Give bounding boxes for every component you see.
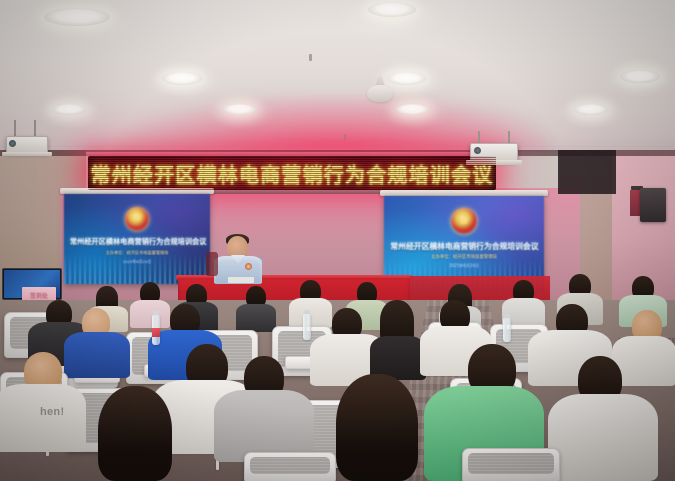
attendee-body — [0, 384, 86, 452]
attendee-body — [548, 394, 658, 481]
right-slide-subtitle: 主办单位：经开区市场监督管理局 — [390, 254, 537, 260]
police-emblem-icon: ★ — [125, 207, 149, 231]
ceiling-seam — [0, 146, 675, 147]
ceiling-sensor — [309, 54, 312, 61]
left-slide-title: 常州经开区横林电商营销行为合规培训会议 — [70, 237, 204, 247]
ceiling-downlight-5 — [620, 70, 660, 83]
ceiling-downlight-3 — [162, 72, 202, 85]
emblem-star-icon: ★ — [132, 212, 142, 223]
left-slide-date: 2025年6月24日 — [70, 259, 204, 265]
ceiling-downlight-7 — [223, 104, 256, 115]
presenter-chair — [206, 252, 218, 276]
chair — [462, 448, 560, 481]
attendee-head — [98, 386, 172, 481]
right-slide-title: 常州经开区横林电商营销行为合规培训会议 — [390, 241, 537, 252]
emblem-star-icon: ★ — [459, 214, 470, 226]
ceiling-downlight-8 — [396, 104, 429, 115]
ac-diffuser — [367, 85, 393, 102]
attendee-body — [130, 300, 170, 328]
attendee-shirt-text-left: hen! — [40, 406, 64, 418]
ceiling-downlight-9 — [574, 104, 608, 115]
projector-left-lens — [9, 140, 16, 147]
led-banner-text: 常州经开区横林电商营销行为合规培训会议 — [91, 159, 494, 188]
attendee-head — [336, 374, 418, 481]
ceiling-downlight-2 — [368, 2, 416, 17]
wall-speaker-right — [640, 188, 666, 222]
attendee-body — [236, 304, 276, 332]
right-slide-date: 2025年6月24日 — [390, 263, 537, 269]
chair-mesh — [250, 457, 330, 474]
ceiling-sensor — [344, 134, 346, 140]
conference-room-photo: 常州经开区横林电商营销行为合规培训会议 ★ 常州经开区横林电商营销行为合规培训会… — [0, 0, 675, 481]
ceiling-downlight-6 — [52, 104, 86, 115]
attendee-body — [64, 332, 130, 378]
water-bottle — [503, 318, 511, 342]
chair — [244, 452, 336, 481]
right-wall-dark-recess — [558, 150, 616, 194]
presenter-papers — [228, 277, 254, 283]
registration-desk-sign-text: 签到处 — [30, 291, 48, 300]
chair-mesh — [468, 453, 554, 474]
presenter-badge-icon — [245, 263, 252, 270]
led-headline-banner: 常州经开区横林电商营销行为合规培训会议 — [88, 156, 496, 190]
left-slide-subtitle: 主办单位：经开区市场监督管理局 — [70, 250, 204, 256]
projector-left-plate — [2, 152, 52, 156]
projector-right-lens — [474, 147, 481, 154]
water-bottle — [303, 314, 311, 340]
left-projection-screen: ★ 常州经开区横林电商营销行为合规培训会议 主办单位：经开区市场监督管理局 20… — [64, 194, 210, 284]
ceiling-downlight-4 — [387, 72, 426, 85]
water-bottle-label — [152, 328, 160, 337]
ceiling-downlight-1 — [44, 8, 110, 26]
